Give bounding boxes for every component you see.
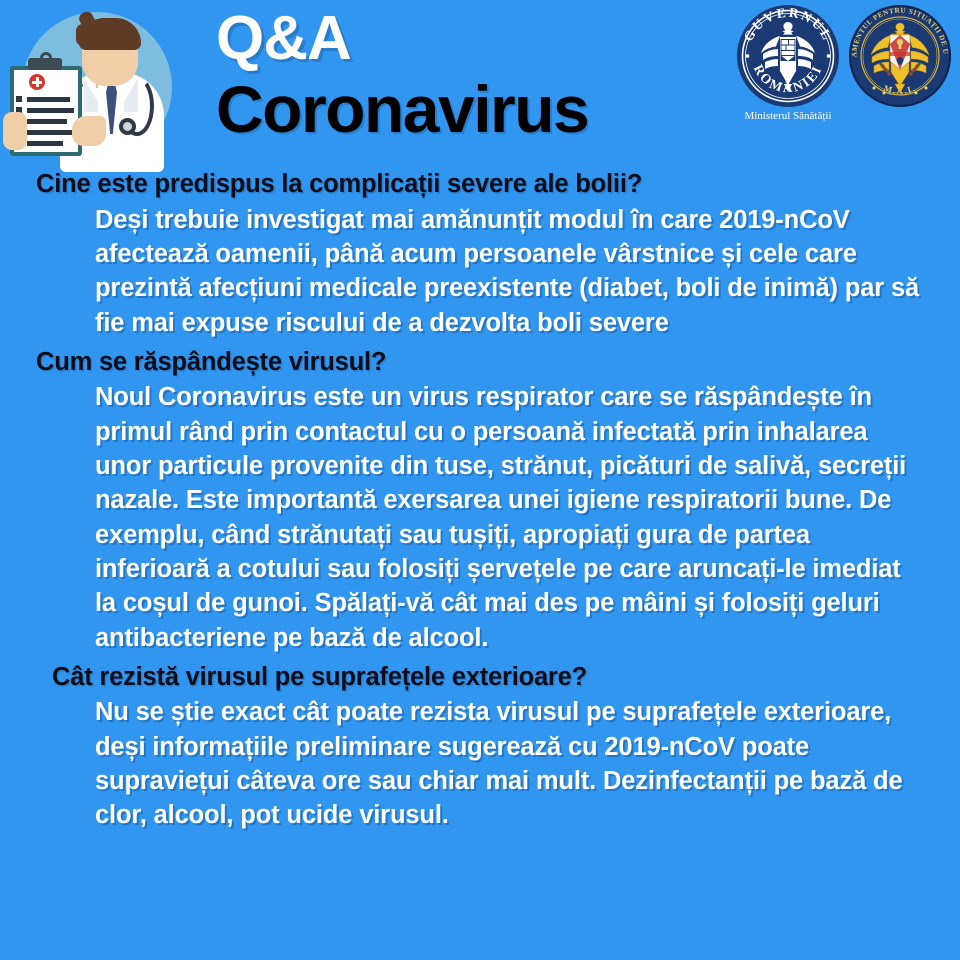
checklist-line: [27, 141, 63, 146]
qa-answer: Noul Coronavirus este un virus respirato…: [0, 380, 960, 654]
checklist-line: [27, 97, 70, 102]
stethoscope-bell-icon: [119, 118, 136, 135]
poster-root: Q&A Coronavirus GUVERNUL: [0, 0, 960, 960]
doctor-with-clipboard-illustration: [2, 6, 174, 170]
guvernul-romaniei-seal-icon: GUVERNUL ROMÂNIEI: [736, 4, 840, 108]
doctor-hand-right: [72, 116, 106, 146]
doctor-hand-left: [3, 112, 27, 150]
guvernul-romaniei-logo: GUVERNUL ROMÂNIEI: [736, 4, 840, 122]
clipboard-clamp: [28, 58, 62, 70]
checklist-line: [27, 108, 74, 113]
checklist-line: [27, 130, 72, 135]
clipboard-checklist-row: [16, 96, 70, 102]
qa-block: Cum se răspândește virusul? Noul Coronav…: [0, 346, 960, 655]
qa-answer: Nu se știe exact cât poate rezista virus…: [0, 695, 960, 832]
dsu-mai-seal-icon: DEPARTAMENTUL PENTRU SITUAȚII DE URGENȚĂ…: [848, 4, 952, 108]
dsu-mai-logo: DEPARTAMENTUL PENTRU SITUAȚII DE URGENȚĂ…: [848, 4, 952, 108]
qa-question: Cum se răspândește virusul?: [0, 346, 960, 379]
logo-caption-ministerul-sanatatii: Ministerul Sănătății: [744, 110, 831, 122]
page-title-qa: Q&A: [216, 8, 351, 70]
medical-cross-icon: [29, 74, 45, 90]
qa-answer: Deși trebuie investigat mai amănunțit mo…: [0, 203, 960, 340]
qa-content: Cine este predispus la complicații sever…: [0, 168, 960, 833]
clipboard-checklist-row: [16, 107, 70, 113]
qa-question: Cine este predispus la complicații sever…: [0, 168, 960, 201]
checklist-line: [27, 119, 67, 124]
qa-question: Cât rezistă virusul pe suprafețele exter…: [0, 661, 960, 694]
page-title-main: Coronavirus: [216, 76, 588, 142]
qa-block: Cine este predispus la complicații sever…: [0, 168, 960, 340]
checkbox-icon: [16, 96, 22, 102]
logo-group: GUVERNUL ROMÂNIEI: [736, 4, 952, 122]
qa-block: Cât rezistă virusul pe suprafețele exter…: [0, 661, 960, 833]
poster-header: Q&A Coronavirus GUVERNUL: [0, 0, 960, 170]
